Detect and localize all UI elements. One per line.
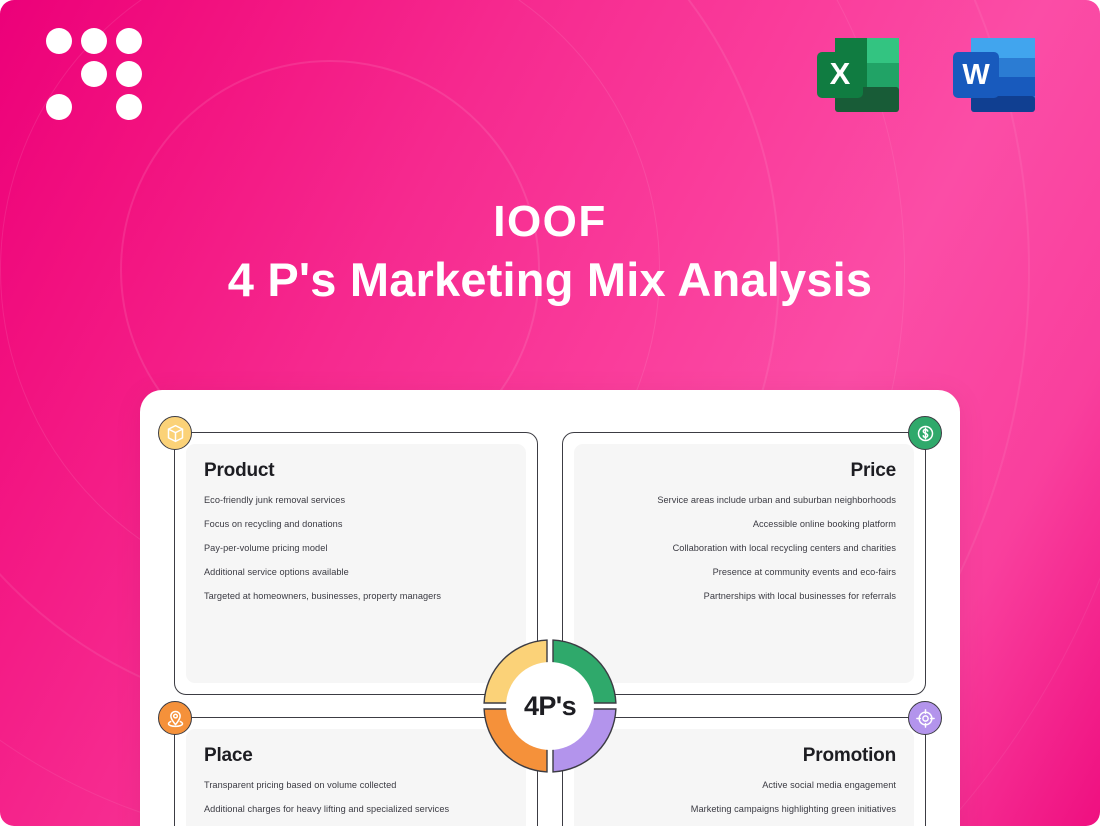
location-pin-icon [165, 708, 186, 729]
quadrant-title: Promotion [803, 745, 896, 767]
logo-dot [116, 94, 142, 120]
list-item: Targeted at homeowners, businesses, prop… [204, 591, 508, 603]
quadrant-title: Place [204, 745, 508, 767]
svg-text:X: X [830, 56, 851, 91]
logo-dot [46, 28, 72, 54]
center-donut-chart: 4P's [469, 625, 631, 787]
slide-canvas: X W IOOF 4 P's Marketing Mix Analysis [0, 0, 1100, 826]
list-item: Partnerships with local businesses for r… [657, 591, 896, 603]
list-item: Service areas include urban and suburban… [657, 495, 896, 507]
word-icon[interactable]: W [947, 30, 1045, 120]
page-title: 4 P's Marketing Mix Analysis [0, 252, 1100, 307]
excel-icon[interactable]: X [811, 30, 909, 120]
quadrant-list: Eco-friendly junk removal services Focus… [204, 495, 508, 615]
list-item: Active social media engagement [691, 780, 896, 792]
list-item: Presence at community events and eco-fai… [657, 567, 896, 579]
quadrant-list: Transparent pricing based on volume coll… [204, 780, 508, 826]
dollar-coin-icon-badge [908, 416, 942, 450]
content-panel: Product Eco-friendly junk removal servic… [140, 390, 960, 826]
list-item: Additional charges for heavy lifting and… [204, 804, 508, 816]
quadrant-title: Price [851, 460, 896, 482]
list-item: Eco-friendly junk removal services [204, 495, 508, 507]
list-item: Focus on recycling and donations [204, 519, 508, 531]
target-crosshair-icon-badge [908, 701, 942, 735]
location-pin-icon-badge [158, 701, 192, 735]
package-box-icon-badge [158, 416, 192, 450]
office-app-icons: X W [811, 30, 1045, 120]
logo-dot [81, 28, 107, 54]
list-item: Collaboration with local recycling cente… [657, 543, 896, 555]
logo-dot [81, 61, 107, 87]
svg-text:W: W [962, 59, 990, 91]
quadrant-list: Service areas include urban and suburban… [657, 495, 896, 615]
quadrant-title: Product [204, 460, 508, 482]
logo-dot [116, 28, 142, 54]
list-item: Marketing campaigns highlighting green i… [691, 804, 896, 816]
logo-dot [46, 94, 72, 120]
target-crosshair-icon [915, 708, 936, 729]
logo-dot [116, 61, 142, 87]
list-item: Pay-per-volume pricing model [204, 543, 508, 555]
dot-grid-logo [46, 28, 142, 120]
list-item: Additional service options available [204, 567, 508, 579]
company-name: IOOF [0, 198, 1100, 246]
list-item: Transparent pricing based on volume coll… [204, 780, 508, 792]
quadrant-list: Active social media engagement Marketing… [691, 780, 896, 826]
donut-svg [469, 625, 631, 787]
package-box-icon [165, 423, 186, 444]
quadrant-grid: Product Eco-friendly junk removal servic… [174, 432, 926, 826]
title-block: IOOF 4 P's Marketing Mix Analysis [0, 198, 1100, 308]
dollar-coin-icon [915, 423, 936, 444]
list-item: Accessible online booking platform [657, 519, 896, 531]
